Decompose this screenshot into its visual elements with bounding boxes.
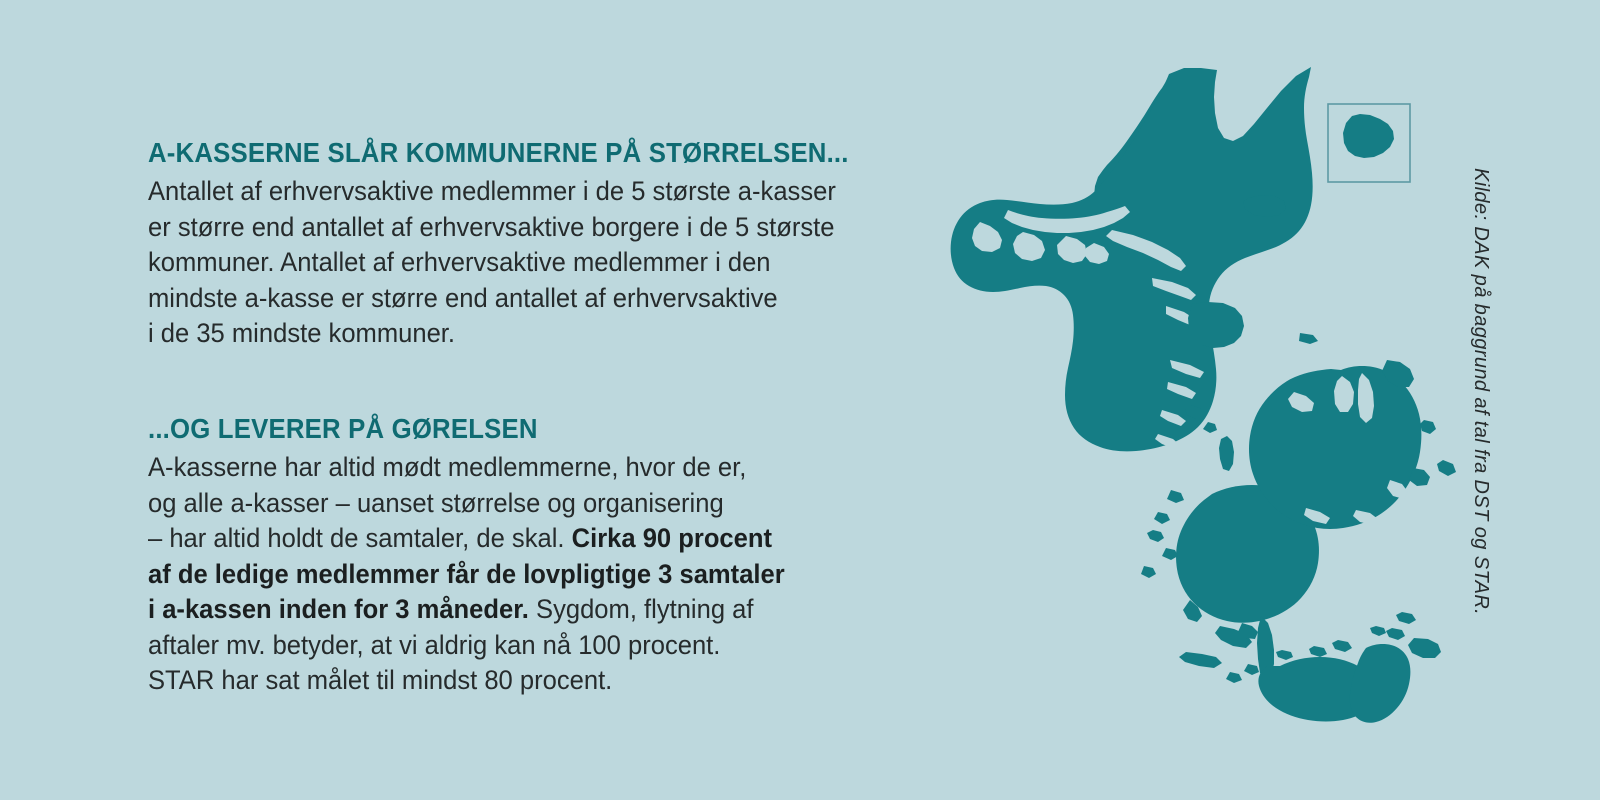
source-note: Kilde: DAK på baggrund af tal fra DST og… (1469, 168, 1492, 628)
map-stevns (1409, 468, 1430, 486)
paragraph-2-bold-3: i a-kassen inden for 3 måneder. (148, 594, 529, 624)
map-islet-15 (1167, 490, 1184, 503)
paragraph-2-bold-2: af de ledige medlemmer får de lovpligtig… (148, 559, 785, 589)
heading-a-kasserne-slaar-kommunerne: A-KASSERNE SLÅR KOMMUNERNE PÅ STØRRELSEN… (148, 138, 847, 167)
paragraph-1-line-4: mindste a-kasse er større end antallet a… (148, 281, 881, 317)
paragraph-2-line-5-rest: Sygdom, flytning af (529, 594, 754, 624)
paragraph-2-bold-1: Cirka 90 procent (572, 523, 772, 553)
paragraph-2-line-1: A-kasserne har altid mødt medlemmerne, h… (148, 450, 881, 486)
heading-og-leverer-paa-goerelsen: ...OG LEVERER PÅ GØRELSEN (148, 414, 847, 443)
text-block-2: ...OG LEVERER PÅ GØRELSEN A-kasserne har… (148, 414, 908, 699)
map-islet-16 (1154, 512, 1170, 524)
map-samsoe (1219, 436, 1234, 471)
paragraph-2-line-6: aftaler mv. betyder, at vi aldrig kan nå… (148, 628, 881, 664)
paragraph-2-line-3: – har altid holdt de samtaler, de skal. … (148, 521, 881, 557)
text-column: A-KASSERNE SLÅR KOMMUNERNE PÅ STØRRELSEN… (148, 138, 908, 699)
map-islet-9 (1147, 530, 1164, 542)
paragraph-1-line-3: kommuner. Antallet af erhvervsaktive med… (148, 245, 881, 281)
map-islet-3 (1276, 650, 1293, 660)
map-islet-10 (1141, 566, 1156, 578)
map-falster (1350, 644, 1411, 723)
paragraph-1-line-2: er større end antallet af erhvervsaktive… (148, 210, 881, 246)
paragraph-1-line-1: Antallet af erhvervsaktive medlemmer i d… (148, 174, 881, 210)
map-islet-4 (1386, 628, 1405, 640)
map-islet-2 (1309, 646, 1327, 657)
map-hesseloe (1420, 420, 1436, 434)
paragraph-2-line-7: STAR har sat målet til mindst 80 procent… (148, 663, 881, 699)
denmark-map (890, 60, 1490, 760)
paragraph-2-line-3-plain: – har altid holdt de samtaler, de skal. (148, 523, 572, 553)
paragraph-1: Antallet af erhvervsaktive medlemmer i d… (148, 174, 881, 352)
paragraph-1-line-5: i de 35 mindste kommuner. (148, 316, 881, 352)
map-islet-1 (1332, 640, 1352, 652)
map-islet-6 (1396, 612, 1416, 624)
map-western-gap-1 (942, 358, 960, 383)
paragraph-2-line-4: af de ledige medlemmer får de lovpligtig… (148, 557, 881, 593)
map-islet-5 (1370, 626, 1386, 636)
map-ringkobing-fjord (948, 310, 971, 355)
text-block-1: A-KASSERNE SLÅR KOMMUNERNE PÅ STØRRELSEN… (148, 138, 908, 352)
map-islet-8 (1226, 672, 1242, 683)
paragraph-2: A-kasserne har altid mødt medlemmerne, h… (148, 450, 881, 699)
map-islet-14 (1437, 460, 1456, 476)
map-landmass-group (935, 64, 1456, 723)
map-aeroe (1179, 652, 1222, 668)
infographic-canvas: A-KASSERNE SLÅR KOMMUNERNE PÅ STØRRELSEN… (0, 0, 1600, 800)
map-islet-7 (1244, 664, 1259, 675)
paragraph-2-line-2: og alle a-kasser – uanset størrelse og o… (148, 486, 881, 522)
map-moen (1408, 638, 1441, 658)
map-bornholm (1343, 114, 1394, 158)
paragraph-2-line-5: i a-kassen inden for 3 måneder. Sygdom, … (148, 592, 881, 628)
map-anholt (1299, 333, 1318, 344)
map-islet-11 (1162, 548, 1178, 560)
